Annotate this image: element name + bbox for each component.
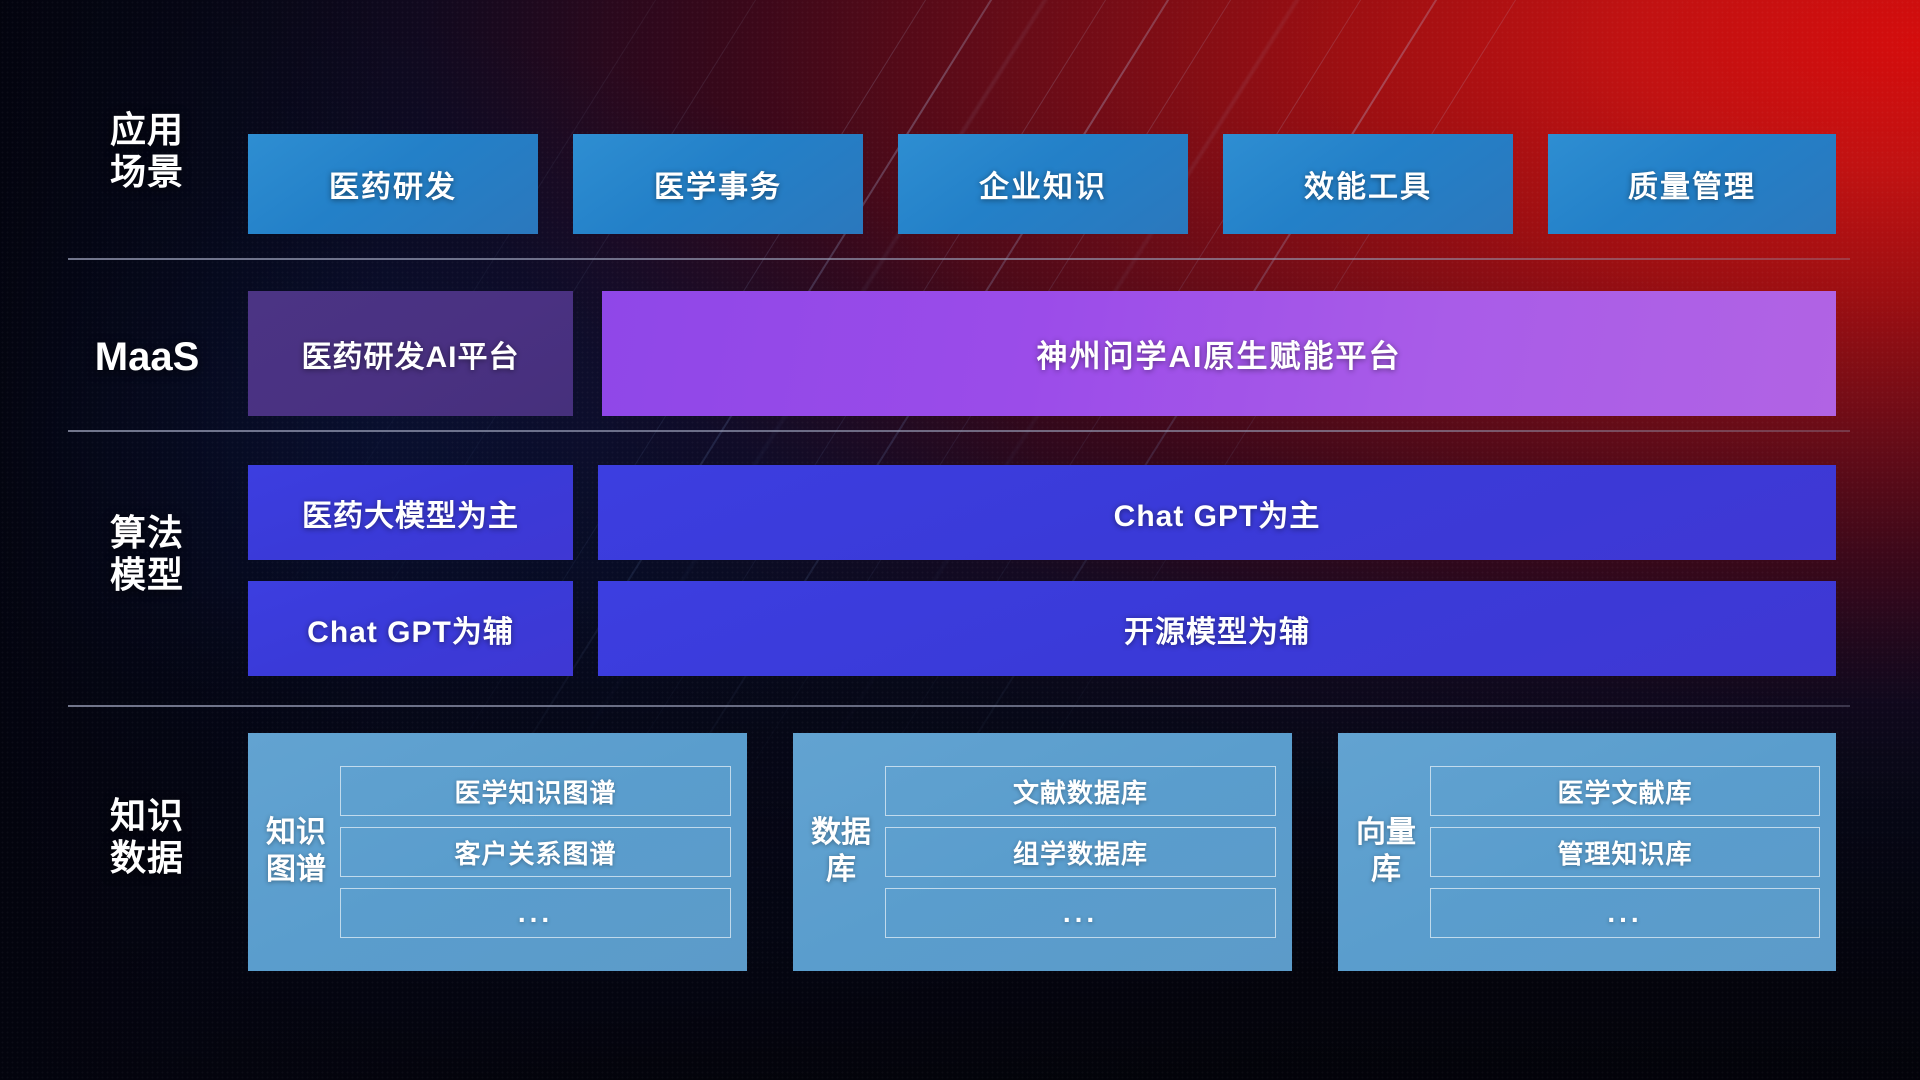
- app-box-4[interactable]: 效能工具: [1223, 134, 1513, 234]
- maas-box-drug-ai-platform[interactable]: 医药研发AI平台: [248, 291, 573, 416]
- knowledge-item-more[interactable]: ...: [340, 888, 731, 938]
- algo-box-chatgpt-primary[interactable]: Chat GPT为主: [598, 465, 1836, 560]
- knowledge-item[interactable]: 文献数据库: [885, 766, 1276, 816]
- knowledge-item-more[interactable]: ...: [1430, 888, 1820, 938]
- app-box-2[interactable]: 医学事务: [573, 134, 863, 234]
- knowledge-item[interactable]: 医学知识图谱: [340, 766, 731, 816]
- row-label-algorithm: 算法 模型: [72, 512, 222, 597]
- knowledge-item[interactable]: 管理知识库: [1430, 827, 1820, 877]
- row-label-algorithm-line2: 模型: [72, 554, 222, 596]
- knowledge-panel-vector[interactable]: 向量库 医学文献库 管理知识库 ...: [1338, 733, 1836, 971]
- knowledge-panel-database[interactable]: 数据库 文献数据库 组学数据库 ...: [793, 733, 1292, 971]
- app-box-3[interactable]: 企业知识: [898, 134, 1188, 234]
- knowledge-panel-graph-title: 知识图谱: [260, 815, 332, 888]
- divider-2: [68, 430, 1850, 432]
- app-box-5[interactable]: 质量管理: [1548, 134, 1836, 234]
- divider-3: [68, 705, 1850, 707]
- knowledge-panel-vector-title: 向量库: [1350, 815, 1422, 888]
- app-box-1[interactable]: 医药研发: [248, 134, 538, 234]
- knowledge-panel-vector-items: 医学文献库 管理知识库 ...: [1422, 766, 1820, 938]
- algo-box-chatgpt-secondary[interactable]: Chat GPT为辅: [248, 581, 573, 676]
- knowledge-panel-database-title: 数据库: [805, 815, 877, 888]
- row-label-application-line1: 应用: [72, 109, 222, 151]
- knowledge-item-more[interactable]: ...: [885, 888, 1276, 938]
- row-label-application-line2: 场景: [72, 151, 222, 193]
- knowledge-item[interactable]: 医学文献库: [1430, 766, 1820, 816]
- divider-1: [68, 258, 1850, 260]
- knowledge-panel-database-items: 文献数据库 组学数据库 ...: [877, 766, 1276, 938]
- row-label-algorithm-line1: 算法: [72, 512, 222, 554]
- maas-box-shenzhou-platform[interactable]: 神州问学AI原生赋能平台: [602, 291, 1836, 416]
- knowledge-item[interactable]: 组学数据库: [885, 827, 1276, 877]
- row-label-maas: MaaS: [72, 334, 222, 381]
- row-label-knowledge-line2: 数据: [72, 837, 222, 879]
- row-label-knowledge: 知识 数据: [72, 795, 222, 880]
- algo-box-drug-model-primary[interactable]: 医药大模型为主: [248, 465, 573, 560]
- row-label-application: 应用 场景: [72, 109, 222, 194]
- algo-box-opensource-secondary[interactable]: 开源模型为辅: [598, 581, 1836, 676]
- knowledge-panel-graph[interactable]: 知识图谱 医学知识图谱 客户关系图谱 ...: [248, 733, 747, 971]
- architecture-diagram: 应用 场景 医药研发 医学事务 企业知识 效能工具 质量管理 MaaS 医药研发…: [0, 0, 1920, 1080]
- knowledge-item[interactable]: 客户关系图谱: [340, 827, 731, 877]
- knowledge-panel-graph-items: 医学知识图谱 客户关系图谱 ...: [332, 766, 731, 938]
- row-label-knowledge-line1: 知识: [72, 795, 222, 837]
